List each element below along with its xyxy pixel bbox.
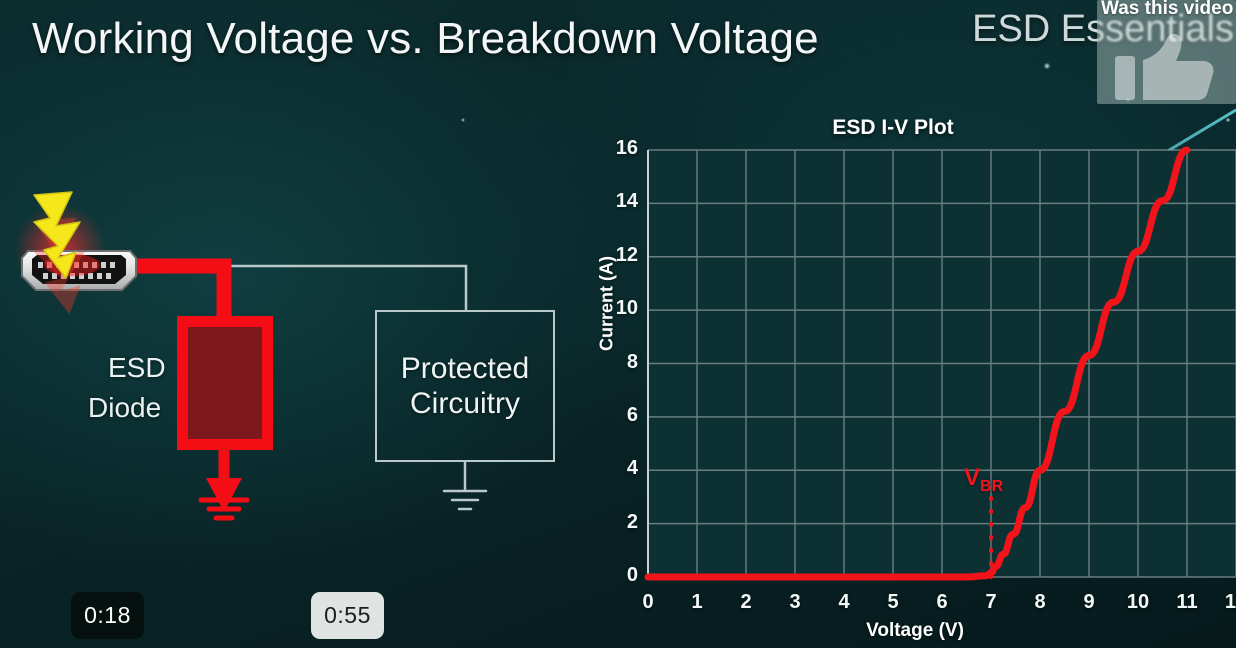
- protected-circuitry-label: Protected Circuitry: [375, 310, 555, 462]
- x-tick-6: 6: [927, 591, 957, 614]
- esd-diode-box: [177, 316, 273, 450]
- thumbs-up-icon[interactable]: [1115, 34, 1219, 100]
- x-tick-10: 10: [1123, 591, 1153, 614]
- x-tick-7: 7: [976, 591, 1006, 614]
- x-tick-8: 8: [1025, 591, 1055, 614]
- esd-diode-label-line1: ESD: [108, 352, 166, 384]
- y-tick-16: 16: [604, 137, 638, 160]
- vbr-subscript: BR: [980, 477, 1003, 494]
- x-tick-4: 4: [829, 591, 859, 614]
- y-tick-0: 0: [604, 564, 638, 587]
- x-tick-2: 2: [731, 591, 761, 614]
- plot-area: [575, 108, 1236, 648]
- protected-label-line2: Circuitry: [410, 386, 520, 421]
- x-tick-9: 9: [1074, 591, 1104, 614]
- y-tick-12: 12: [604, 244, 638, 267]
- vbr-symbol: V: [964, 464, 980, 491]
- y-tick-2: 2: [604, 511, 638, 534]
- y-tick-14: 14: [604, 190, 638, 213]
- y-tick-8: 8: [604, 351, 638, 374]
- feedback-question: Was this video: [1101, 0, 1233, 20]
- esd-diode-label-line2: Diode: [88, 392, 161, 424]
- video-frame: Working Voltage vs. Breakdown Voltage ES…: [0, 0, 1236, 648]
- x-tick-3: 3: [780, 591, 810, 614]
- y-tick-6: 6: [604, 404, 638, 427]
- hdmi-connector-icon: [14, 204, 136, 296]
- esd-iv-chart: ESD I-V Plot Current (A) Voltage (V) 024…: [575, 108, 1236, 648]
- vbr-annotation-label: VBR: [964, 464, 1003, 496]
- y-tick-10: 10: [604, 297, 638, 320]
- protected-label-line1: Protected: [401, 351, 529, 386]
- ground-icon-protected: [444, 462, 486, 509]
- feedback-overlay[interactable]: Was this video: [1097, 0, 1236, 104]
- x-tick-1: 1: [682, 591, 712, 614]
- total-time-badge[interactable]: 0:55: [311, 592, 384, 639]
- x-tick-5: 5: [878, 591, 908, 614]
- current-time-badge[interactable]: 0:18: [71, 592, 144, 639]
- x-tick-0: 0: [633, 591, 663, 614]
- x-tick-11: 11: [1172, 591, 1202, 614]
- x-tick-12: 12: [1221, 591, 1236, 614]
- y-tick-4: 4: [604, 457, 638, 480]
